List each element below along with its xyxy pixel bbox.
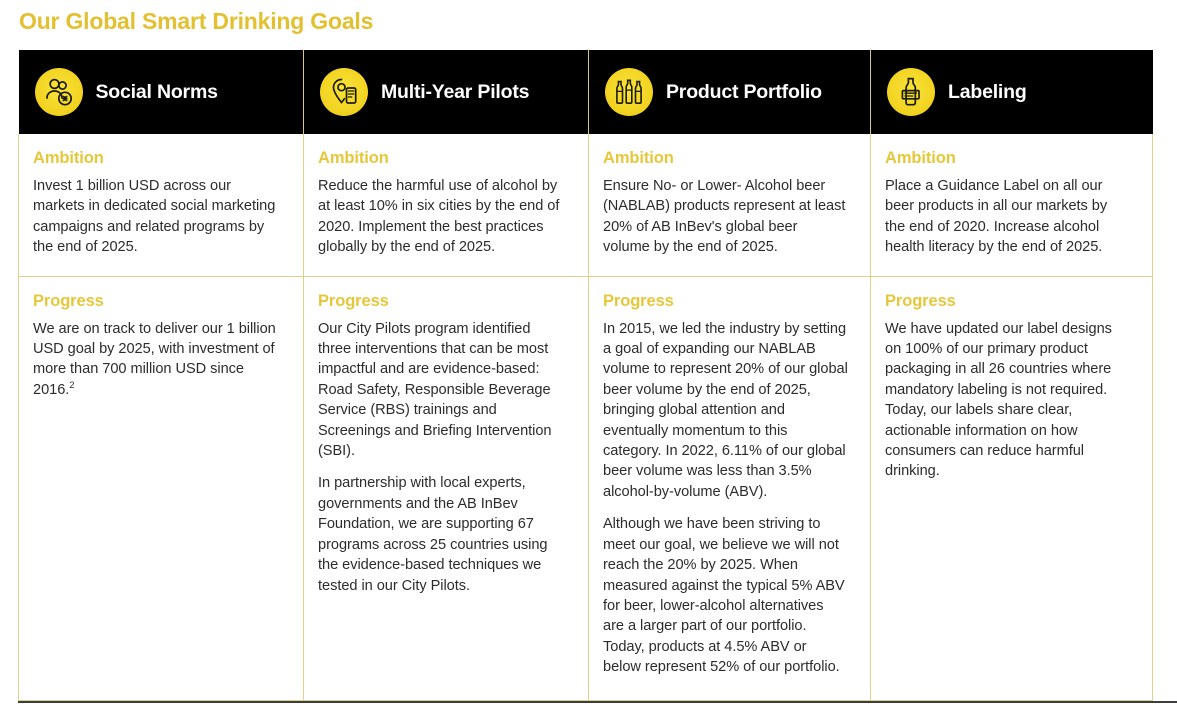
header-cell-multi-year-pilots: Multi-Year Pilots [304, 50, 589, 134]
cell-heading-ambition: Ambition [885, 148, 1130, 168]
table-row-ambition: Ambition Invest 1 billion USD across our… [19, 134, 1153, 276]
two-people-icon [35, 68, 83, 116]
cell-heading-progress: Progress [318, 291, 566, 311]
progress-cell-social-norms: Progress We are on track to deliver our … [19, 276, 304, 700]
ambition-cell-social-norms: Ambition Invest 1 billion USD across our… [19, 134, 304, 276]
cell-heading-progress: Progress [603, 291, 848, 311]
header-cell-social-norms: Social Norms [19, 50, 304, 134]
smart-drinking-goals-page: Our Global Smart Drinking Goals [0, 0, 1177, 719]
goals-table: Social Norms Multi-Year [18, 50, 1153, 701]
header-title: Multi-Year Pilots [381, 81, 529, 104]
progress-text: We have updated our label designs on 100… [885, 319, 1130, 482]
header-cell-labeling: Labeling [871, 50, 1153, 134]
ambition-cell-product-portfolio: Ambition Ensure No- or Lower- Alcohol be… [589, 134, 871, 276]
ambition-cell-labeling: Ambition Place a Guidance Label on all o… [871, 134, 1153, 276]
cell-heading-progress: Progress [885, 291, 1130, 311]
page-title: Our Global Smart Drinking Goals [19, 7, 373, 35]
ambition-text: Reduce the harmful use of alcohol by at … [318, 176, 566, 258]
footnote-marker: 2 [69, 380, 74, 391]
header-title: Product Portfolio [666, 81, 822, 104]
table-row-progress: Progress We are on track to deliver our … [19, 276, 1153, 700]
bottom-divider [18, 701, 1177, 703]
progress-text: Although we have been striving to meet o… [603, 514, 848, 677]
ambition-text: Ensure No- or Lower- Alcohol beer (NABLA… [603, 176, 848, 258]
bottle-label-icon [887, 68, 935, 116]
ambition-text: Place a Guidance Label on all our beer p… [885, 176, 1130, 258]
cell-heading-ambition: Ambition [603, 148, 848, 168]
header-title: Labeling [948, 81, 1027, 104]
progress-text: We are on track to deliver our 1 billion… [33, 319, 281, 401]
cell-heading-ambition: Ambition [318, 148, 566, 168]
cell-heading-progress: Progress [33, 291, 281, 311]
progress-text: In partnership with local experts, gover… [318, 473, 566, 595]
progress-text: Our City Pilots program identified three… [318, 319, 566, 462]
table-header-row: Social Norms Multi-Year [19, 50, 1153, 134]
progress-cell-labeling: Progress We have updated our label desig… [871, 276, 1153, 700]
location-pin-mobile-icon [320, 68, 368, 116]
progress-text: In 2015, we led the industry by setting … [603, 319, 848, 503]
ambition-text: Invest 1 billion USD across our markets … [33, 176, 281, 258]
header-cell-product-portfolio: Product Portfolio [589, 50, 871, 134]
progress-cell-product-portfolio: Progress In 2015, we led the industry by… [589, 276, 871, 700]
three-bottles-icon [605, 68, 653, 116]
header-title: Social Norms [96, 81, 218, 104]
progress-cell-multi-year-pilots: Progress Our City Pilots program identif… [304, 276, 589, 700]
ambition-cell-multi-year-pilots: Ambition Reduce the harmful use of alcoh… [304, 134, 589, 276]
cell-heading-ambition: Ambition [33, 148, 281, 168]
